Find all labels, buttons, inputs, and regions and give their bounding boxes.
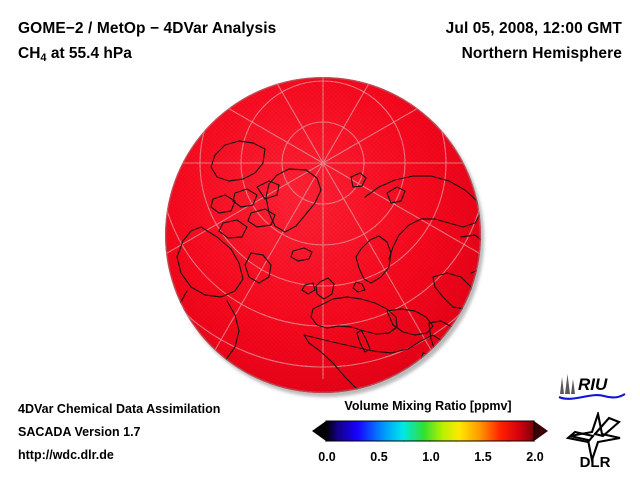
- header-right: Jul 05, 2008, 12:00 GMT Northern Hemisph…: [322, 16, 622, 66]
- colorbar-title: Volume Mixing Ratio [ppmv]: [312, 398, 544, 414]
- credit-line-2: SACADA Version 1.7: [18, 421, 220, 444]
- colorbar-tick-1: 0.5: [370, 450, 387, 464]
- colorbar-gradient: [326, 421, 534, 441]
- riu-logo: RIU: [556, 372, 628, 404]
- colorbar-tick-labels: 0.0 0.5 1.0 1.5 2.0: [310, 450, 550, 468]
- colorbar: Volume Mixing Ratio [ppmv]: [310, 398, 550, 468]
- credit-line-1: 4DVar Chemical Data Assimilation: [18, 398, 220, 421]
- dlr-logo-text: DLR: [580, 454, 611, 470]
- dlr-logo-svg: DLR: [562, 412, 628, 470]
- colorbar-tick-4: 2.0: [526, 450, 543, 464]
- pressure-level-label: at 55.4 hPa: [47, 45, 132, 62]
- riu-towers-icon: [560, 374, 575, 394]
- species-label: CH: [18, 45, 40, 62]
- credit-url[interactable]: http://wdc.dlr.de: [18, 444, 220, 467]
- riu-logo-text: RIU: [578, 375, 608, 394]
- colorbar-right-arrow: [534, 421, 548, 441]
- region-label: Northern Hemisphere: [322, 41, 622, 66]
- riu-swoosh-icon: [559, 394, 625, 399]
- colorbar-swatch-holder: [310, 420, 550, 447]
- globe-svg: [165, 77, 481, 393]
- footer-credits: 4DVar Chemical Data Assimilation SACADA …: [18, 398, 220, 467]
- colorbar-tick-3: 1.5: [474, 450, 491, 464]
- datetime-label: Jul 05, 2008, 12:00 GMT: [322, 16, 622, 41]
- colorbar-svg: [310, 420, 550, 442]
- colorbar-tick-0: 0.0: [318, 450, 335, 464]
- species-subscript: 4: [40, 52, 46, 64]
- colorbar-left-arrow: [312, 421, 326, 441]
- globe-map: [165, 77, 481, 393]
- riu-logo-svg: RIU: [556, 372, 628, 404]
- dlr-logo: DLR: [562, 412, 628, 470]
- colorbar-tick-2: 1.0: [422, 450, 439, 464]
